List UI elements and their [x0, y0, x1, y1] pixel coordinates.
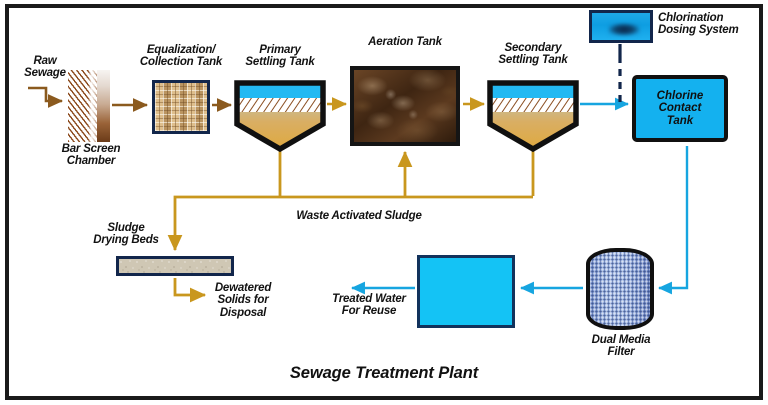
- primary-settling-tank-shape: [234, 80, 326, 152]
- secondary-settling-tank-shape: [487, 80, 579, 152]
- treated-water-label: Treated Water For Reuse: [325, 293, 413, 318]
- sludge-drying-beds[interactable]: [116, 256, 234, 276]
- dual-media-filter[interactable]: [586, 248, 654, 330]
- aeration-tank[interactable]: [350, 66, 460, 146]
- chlorine-contact-tank-label: Chlorine Contact Tank: [657, 90, 704, 127]
- chlorination-dosing-system[interactable]: [589, 10, 653, 43]
- bar-screen-chamber[interactable]: [68, 70, 110, 142]
- secondary-settling-tank-label: Secondary Settling Tank: [485, 42, 581, 67]
- chlorine-contact-tank[interactable]: Chlorine Contact Tank: [632, 75, 728, 142]
- treated-water-tank[interactable]: [417, 255, 515, 328]
- equalization-collection-tank[interactable]: [152, 80, 210, 134]
- primary-settling-tank-label: Primary Settling Tank: [232, 44, 328, 69]
- bar-screen-chamber-label: Bar Screen Chamber: [52, 143, 130, 168]
- waste-activated-sludge-label: Waste Activated Sludge: [276, 210, 442, 222]
- page-title: Sewage Treatment Plant: [0, 364, 768, 383]
- bar-screen-gradient-face: [97, 70, 110, 142]
- sludge-drying-beds-label: Sludge Drying Beds: [80, 222, 172, 247]
- raw-sewage-label: Raw Sewage: [14, 55, 76, 80]
- secondary-settling-tank[interactable]: [487, 80, 579, 152]
- equalization-collection-tank-label: Equalization/ Collection Tank: [135, 44, 227, 69]
- dual-media-filter-label: Dual Media Filter: [575, 334, 667, 359]
- primary-settling-tank[interactable]: [234, 80, 326, 152]
- chlorination-dosing-system-label: Chlorination Dosing System: [658, 12, 762, 37]
- diagram-canvas: Bar Screen Chamber Raw Sewage Equalizati…: [0, 0, 768, 405]
- dewatered-solids-label: Dewatered Solids for Disposal: [200, 282, 286, 319]
- aeration-tank-label: Aeration Tank: [357, 36, 453, 48]
- dosing-pump-icon: [608, 23, 640, 36]
